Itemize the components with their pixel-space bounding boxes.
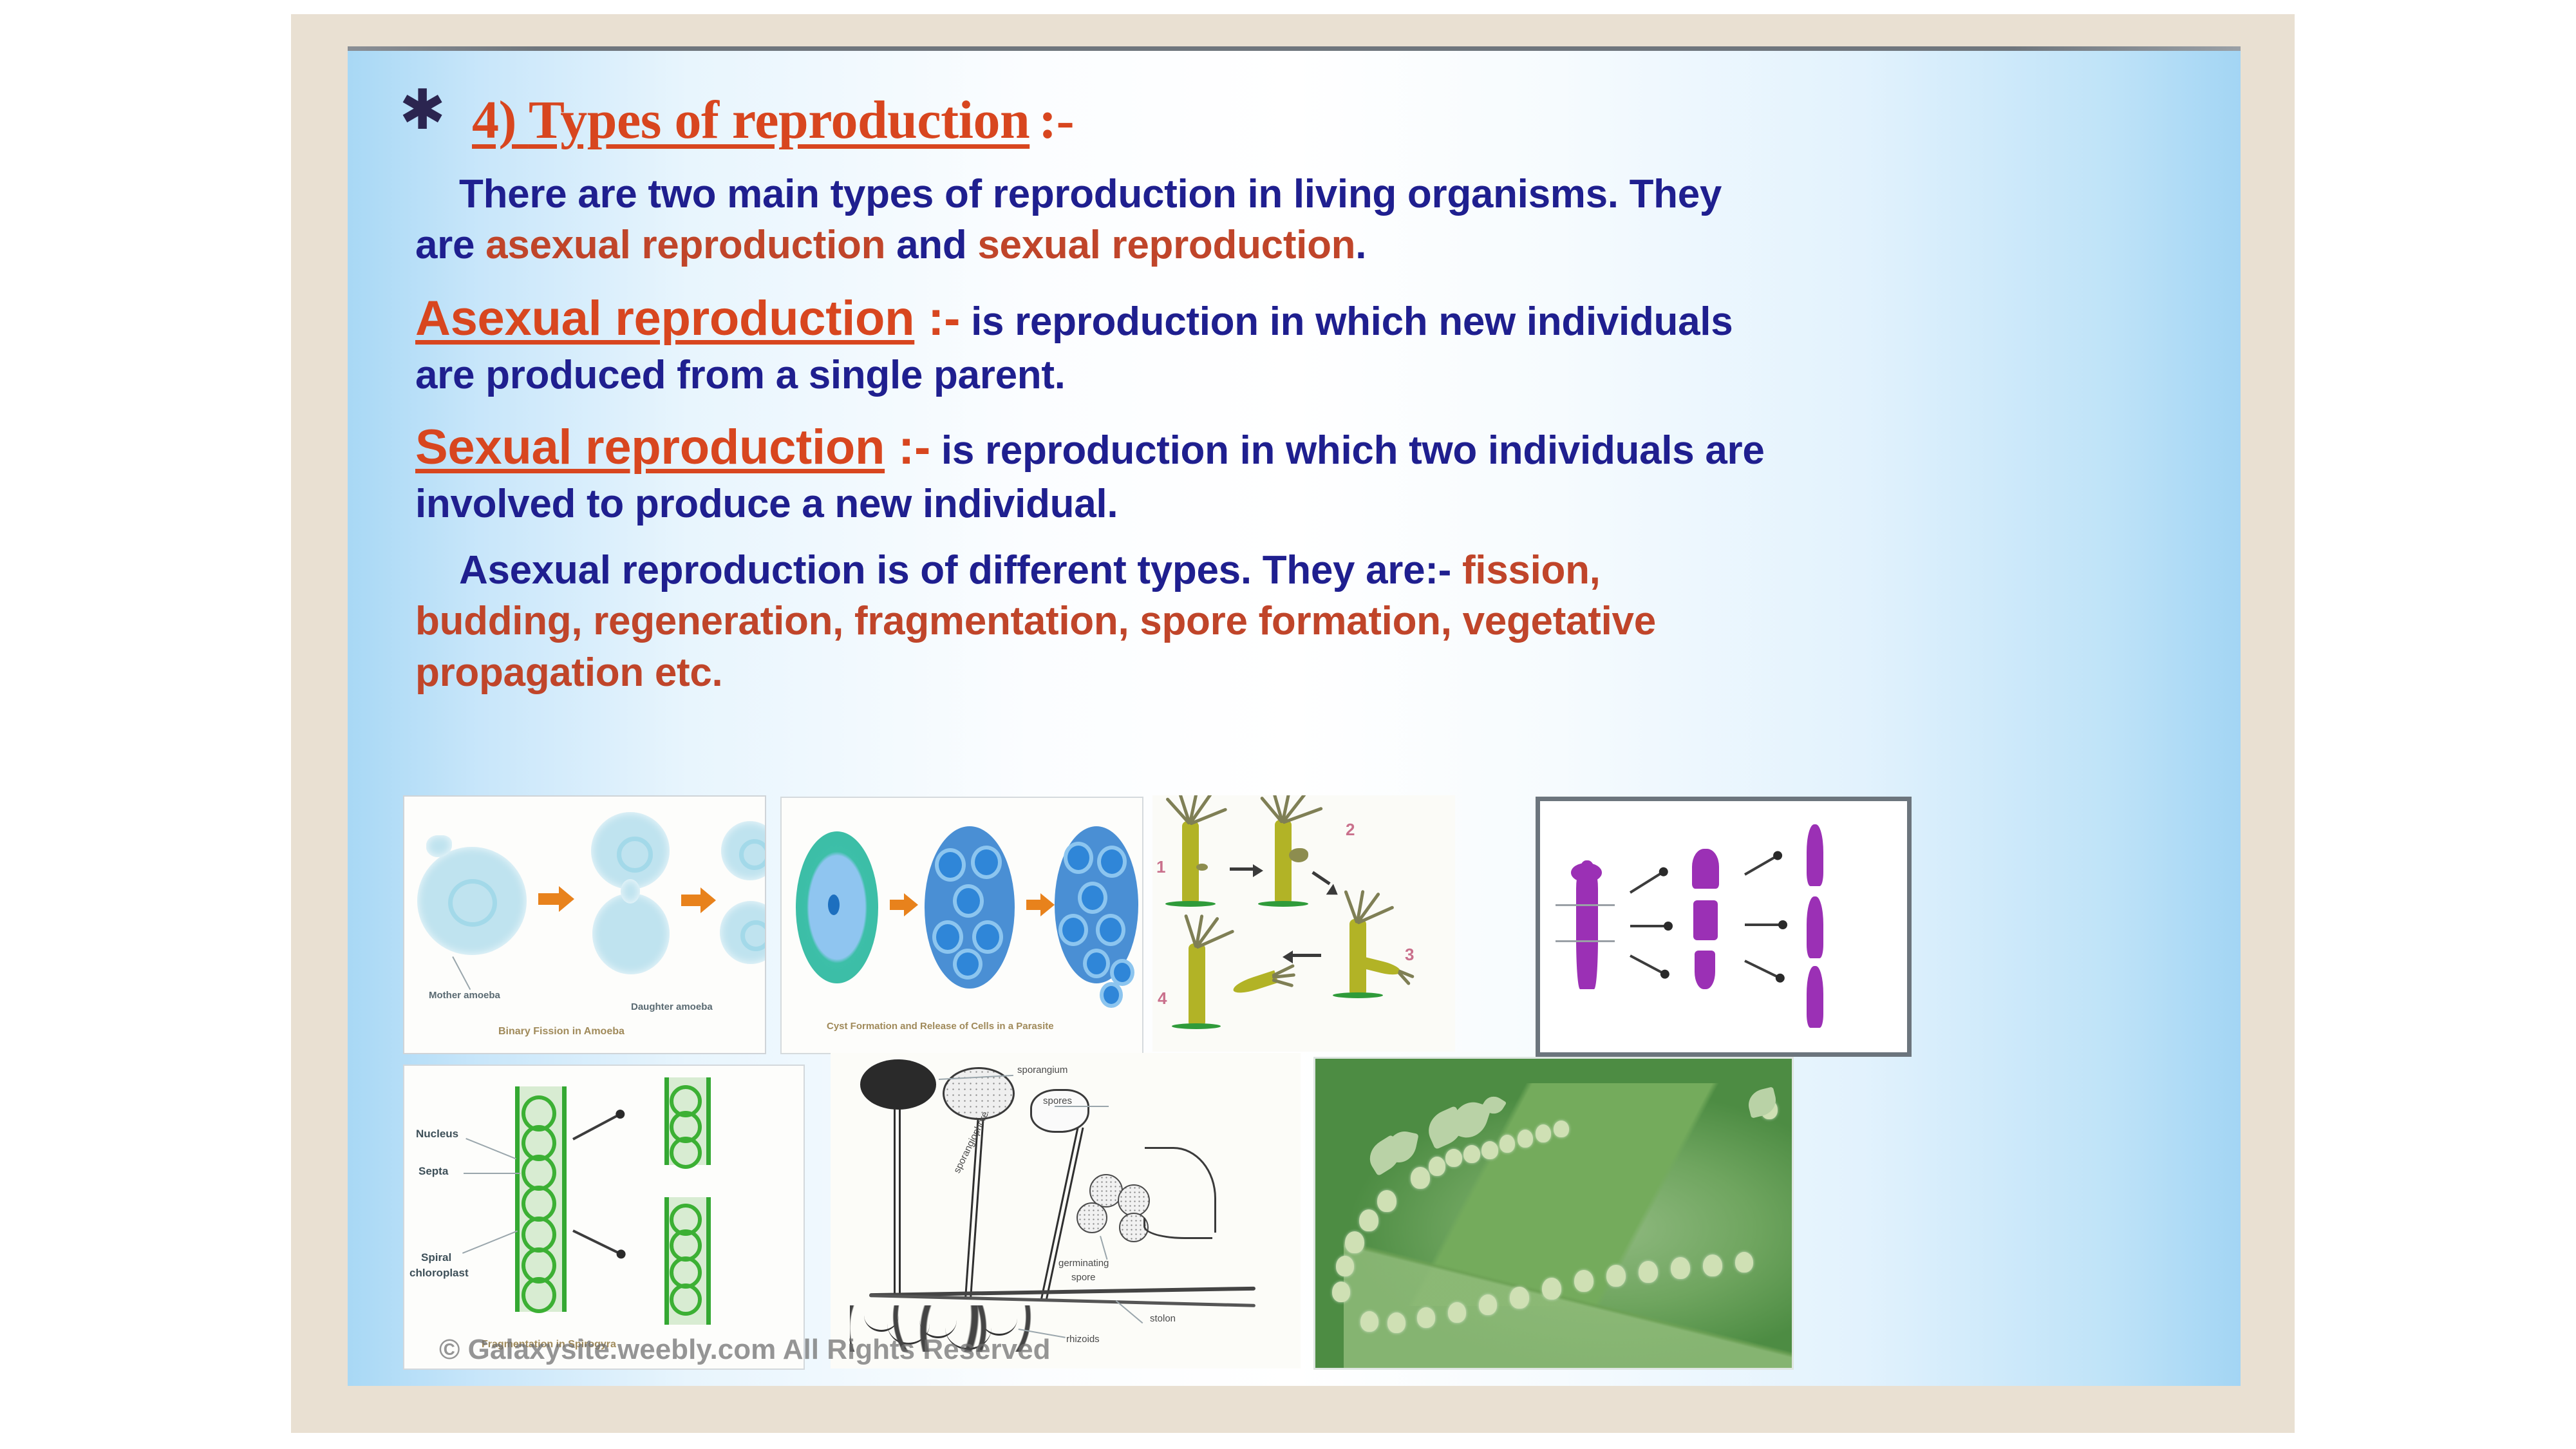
definition-sexual-term: Sexual reproduction bbox=[415, 420, 885, 475]
black-arrow-icon bbox=[1630, 954, 1667, 976]
types-line-1-blue: Asexual reproduction is of different typ… bbox=[459, 548, 1462, 592]
types-paragraph: Asexual reproduction is of different typ… bbox=[415, 545, 2192, 698]
label-sporangiophore: sporangiophore bbox=[952, 1110, 991, 1175]
black-arrow-icon bbox=[1744, 960, 1782, 980]
panel-cyst-formation-parasite[interactable]: Cyst Formation and Release of Cells in a… bbox=[780, 797, 1143, 1054]
intro-line-1: There are two main types of reproduction… bbox=[459, 172, 1722, 216]
label-mother-amoeba: Mother amoeba bbox=[429, 990, 500, 1001]
panel-fragmentation-spirogyra[interactable]: Nucleus Septa Spiral chloroplast Fragmen… bbox=[403, 1065, 805, 1370]
definition-asexual-colon: :- bbox=[928, 291, 960, 346]
page-root: ✱ 4) Types of reproduction:- There are t… bbox=[0, 0, 2576, 1449]
label-spiral-chloroplast-line1: Spiral bbox=[421, 1251, 451, 1264]
intro-line-2-end: . bbox=[1355, 223, 1366, 267]
panel-regeneration-planaria[interactable] bbox=[1536, 797, 1912, 1057]
title-text: Types of reproduction bbox=[529, 90, 1029, 150]
black-arrow-icon bbox=[1630, 925, 1670, 927]
presentation-slide: ✱ 4) Types of reproduction:- There are t… bbox=[348, 46, 2241, 1386]
hydra-step-2-number: 2 bbox=[1346, 820, 1355, 840]
label-nucleus: Nucleus bbox=[416, 1128, 458, 1141]
hydra-step-3-number: 3 bbox=[1405, 945, 1414, 965]
slide-top-divider bbox=[348, 46, 2241, 51]
page-title: 4) Types of reproduction:- bbox=[472, 89, 1074, 151]
black-arrow-icon bbox=[1290, 954, 1321, 957]
definition-asexual-body-1: is reproduction in which new individuals bbox=[971, 299, 1733, 344]
leaf-photograph bbox=[1315, 1059, 1792, 1368]
label-rhizoids: rhizoids bbox=[1066, 1334, 1100, 1345]
slide-text-content: ✱ 4) Types of reproduction:- There are t… bbox=[348, 55, 2241, 828]
intro-line-2-mid: and bbox=[885, 223, 977, 267]
definition-sexual-body-1: is reproduction in which two individuals… bbox=[941, 428, 1765, 473]
black-arrow-icon bbox=[1312, 871, 1330, 885]
label-germinating-spore-line1: germinating bbox=[1058, 1258, 1109, 1269]
black-arrow-icon bbox=[1744, 853, 1780, 875]
hydra-step-4-number: 4 bbox=[1158, 989, 1167, 1009]
black-arrow-icon bbox=[1630, 869, 1666, 893]
label-germinating-spore-line2: spore bbox=[1071, 1272, 1096, 1283]
copyright-watermark: © Galaxysite.weebly.com All Rights Reser… bbox=[439, 1334, 1050, 1366]
panel-binary-fission-amoeba[interactable]: Mother amoeba Daughter amoeba Binary Fis… bbox=[403, 795, 766, 1054]
intro-paragraph: There are two main types of reproduction… bbox=[415, 169, 2192, 271]
term-asexual-inline: asexual reproduction bbox=[485, 223, 885, 267]
label-stolon: stolon bbox=[1150, 1313, 1176, 1324]
label-sporangium: sporangium bbox=[1017, 1065, 1067, 1075]
term-sexual-inline: sexual reproduction bbox=[977, 223, 1355, 267]
title-colon: :- bbox=[1039, 90, 1074, 150]
types-line-3-highlight: propagation etc. bbox=[415, 650, 722, 695]
panel-vegetative-propagation-leaf[interactable] bbox=[1313, 1057, 1794, 1370]
caption-binary-fission: Binary Fission in Amoeba bbox=[498, 1026, 625, 1037]
caption-cyst-formation: Cyst Formation and Release of Cells in a… bbox=[827, 1021, 1054, 1032]
definition-sexual-colon: :- bbox=[898, 420, 930, 475]
title-number: 4) bbox=[472, 90, 516, 150]
definition-sexual-body-2: involved to produce a new individual. bbox=[415, 482, 1118, 526]
label-spiral-chloroplast-line2: chloroplast bbox=[409, 1267, 469, 1280]
definition-sexual: Sexual reproduction :- is reproduction i… bbox=[415, 416, 2192, 530]
asterisk-bullet-icon: ✱ bbox=[399, 82, 446, 138]
hydra-step-1-number: 1 bbox=[1156, 857, 1165, 877]
black-arrow-icon bbox=[1745, 923, 1785, 926]
types-line-1-highlight: fission, bbox=[1462, 548, 1601, 592]
panel-spore-formation-rhizopus[interactable]: sporangium spores sporangiophore germina… bbox=[831, 1053, 1301, 1368]
label-spores: spores bbox=[1043, 1095, 1072, 1106]
definition-asexual-term: Asexual reproduction bbox=[415, 291, 914, 346]
black-arrow-icon bbox=[1230, 867, 1254, 871]
black-arrow-icon bbox=[572, 1112, 623, 1141]
label-septa: Septa bbox=[418, 1165, 448, 1178]
image-gallery-band: Mother amoeba Daughter amoeba Binary Fis… bbox=[348, 795, 2241, 1386]
types-line-2-highlight: budding, regeneration, fragmentation, sp… bbox=[415, 599, 1656, 643]
black-arrow-icon bbox=[572, 1229, 623, 1256]
intro-line-2-prefix: are bbox=[415, 223, 485, 267]
definition-asexual: Asexual reproduction :- is reproduction … bbox=[415, 287, 2192, 401]
panel-budding-hydra[interactable]: 1 2 bbox=[1152, 795, 1455, 1052]
label-daughter-amoeba: Daughter amoeba bbox=[631, 1001, 713, 1012]
definition-asexual-body-2: are produced from a single parent. bbox=[415, 353, 1066, 397]
